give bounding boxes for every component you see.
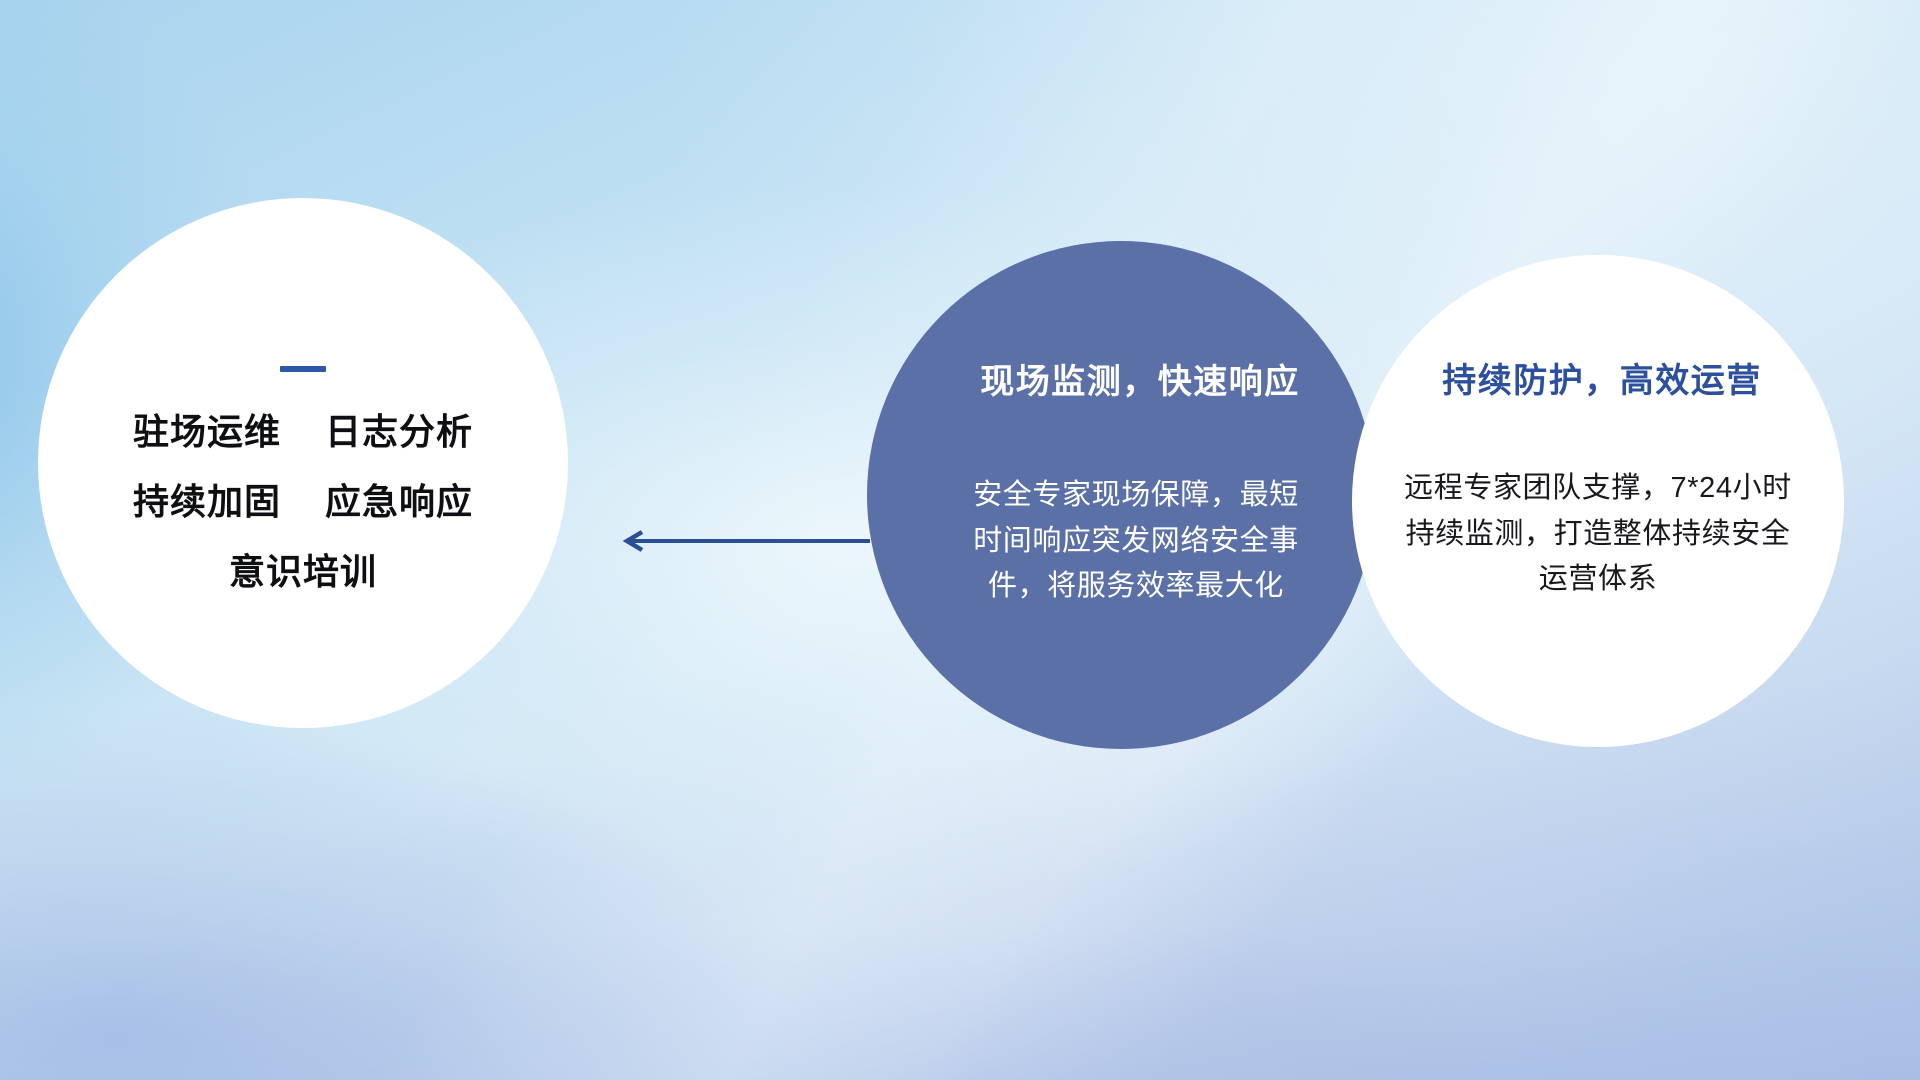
left-arrow-icon	[608, 530, 870, 552]
right-circle-content: 持续防护，高效运营 远程专家团队支撑，7*24小时持续监测，打造整体持续安全运营…	[1352, 255, 1844, 602]
mid-circle-title: 现场监测，快速响应	[867, 364, 1375, 401]
slide-canvas: 驻场运维 日志分析 持续加固 应急响应 意识培训 现场监测，快速响应 安全专家现…	[0, 0, 1920, 1080]
capability-line-2: 持续加固 应急响应	[38, 484, 568, 520]
right-circle-title: 持续防护，高效运营	[1352, 363, 1844, 400]
right-circle-body: 远程专家团队支撑，7*24小时持续监测，打造整体持续安全运营体系	[1352, 466, 1844, 602]
capability-line-3: 意识培训	[38, 554, 568, 590]
mid-circle-content: 现场监测，快速响应 安全专家现场保障，最短时间响应突发网络安全事件，将服务效率最…	[867, 241, 1375, 609]
accent-dash-icon	[280, 366, 326, 372]
left-circle-content: 驻场运维 日志分析 持续加固 应急响应 意识培训	[38, 366, 568, 590]
mid-circle-body: 安全专家现场保障，最短时间响应突发网络安全事件，将服务效率最大化	[867, 473, 1375, 609]
capability-line-1: 驻场运维 日志分析	[38, 414, 568, 450]
onsite-capabilities-circle: 驻场运维 日志分析 持续加固 应急响应 意识培训	[38, 198, 568, 728]
